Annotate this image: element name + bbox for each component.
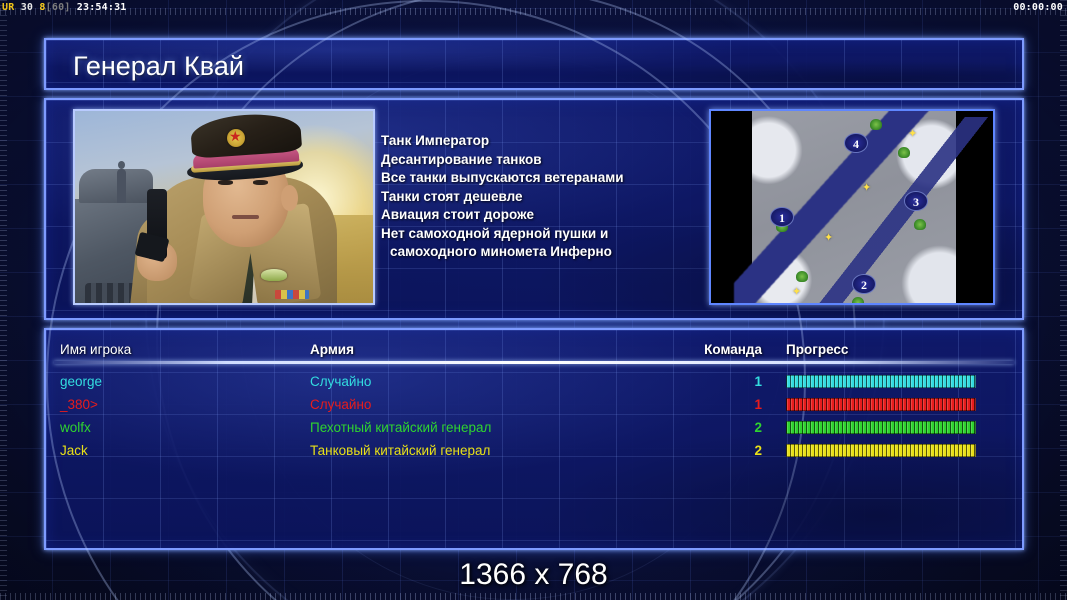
map-tree-marker [914, 219, 926, 230]
player-team: 1 [690, 397, 762, 412]
map-resource-marker: ✦ [824, 233, 833, 244]
resolution-overlay: 1366 x 768 [0, 558, 1067, 592]
portrait-cap-star-emblem [227, 129, 245, 147]
portrait-medal-ribbons [275, 290, 309, 299]
progress-bar [786, 398, 976, 411]
fps-counter: 30 [21, 2, 33, 13]
table-row[interactable]: JackТанковый китайский генерал2 [46, 439, 1022, 462]
player-army: Случайно [310, 397, 690, 412]
player-army: Пехотный китайский генерал [310, 420, 690, 435]
player-name: Jack [60, 443, 310, 458]
map-resource-marker: ✦ [862, 183, 871, 194]
status-bar-left: UR 30 8[60] 23:54:31 [2, 0, 127, 15]
player-progress [762, 421, 980, 434]
description-line: самоходного миномета Инферно [381, 243, 624, 262]
map-start-position[interactable]: 4 [844, 133, 868, 153]
player-progress [762, 398, 980, 411]
player-list: georgeСлучайно1_380>Случайно1wolfxПехотн… [46, 370, 1022, 462]
map-tree-marker [852, 297, 864, 305]
map-start-position[interactable]: 2 [852, 274, 876, 294]
table-header-divider [54, 361, 1014, 364]
map-tree-marker [898, 147, 910, 158]
table-row[interactable]: georgeСлучайно1 [46, 370, 1022, 393]
portrait-eye-right [253, 180, 268, 185]
map-start-position[interactable]: 1 [770, 207, 794, 227]
player-name: wolfx [60, 420, 310, 435]
player-name: _380> [60, 397, 310, 412]
player-team: 2 [690, 420, 762, 435]
portrait-pistol [147, 189, 167, 259]
system-clock: 23:54:31 [77, 2, 127, 13]
map-tree-marker [870, 119, 882, 130]
portrait-eye-left [218, 180, 233, 185]
table-header-row: Имя игрока Армия Команда Прогресс [46, 338, 1022, 360]
portrait-mouth [232, 215, 259, 219]
general-description: Танк ИмператорДесантирование танковВсе т… [381, 132, 624, 262]
game-screen: UR 30 8[60] 23:54:31 00:00:00 Генерал Кв… [0, 0, 1067, 600]
progress-bar [786, 421, 976, 434]
header-player-name: Имя игрока [60, 342, 310, 357]
progress-bar [786, 444, 976, 457]
game-timer: 00:00:00 [1013, 0, 1063, 15]
ping-bracket-close: ] [64, 2, 70, 13]
description-line: Танк Император [381, 132, 624, 151]
ping-max: 60 [52, 2, 64, 13]
table-row[interactable]: wolfxПехотный китайский генерал2 [46, 416, 1022, 439]
map-preview[interactable]: ✦✦✦✦1234 [709, 109, 995, 305]
general-info-panel: Танк ИмператорДесантирование танковВсе т… [44, 98, 1024, 320]
player-team: 2 [690, 443, 762, 458]
players-panel: Имя игрока Армия Команда Прогресс george… [44, 328, 1024, 550]
map-resource-marker: ✦ [908, 129, 917, 140]
description-line: Нет самоходной ядерной пушки и [381, 225, 624, 244]
progress-bar [786, 375, 976, 388]
page-title: Генерал Квай [46, 40, 1022, 92]
title-panel: Генерал Квай [44, 38, 1024, 90]
header-army: Армия [310, 342, 690, 357]
player-progress [762, 444, 980, 457]
player-team: 1 [690, 374, 762, 389]
portrait-ear [281, 185, 298, 211]
portrait-wing-badge [261, 269, 287, 281]
map-resource-marker: ✦ [792, 287, 801, 298]
map-tree-marker [796, 271, 808, 282]
player-progress [762, 375, 980, 388]
general-portrait [73, 109, 375, 305]
player-name: george [60, 374, 310, 389]
status-bar: UR 30 8[60] 23:54:31 00:00:00 [0, 0, 1067, 15]
player-army: Танковый китайский генерал [310, 443, 690, 458]
portrait-soldier [117, 169, 126, 203]
player-army: Случайно [310, 374, 690, 389]
description-line: Десантирование танков [381, 151, 624, 170]
map-terrain: ✦✦✦✦1234 [752, 111, 956, 305]
map-start-position[interactable]: 3 [904, 191, 928, 211]
description-line: Авиация стоит дороже [381, 206, 624, 225]
lobby-window: Генерал Квай [44, 38, 1024, 558]
description-line: Все танки выпускаются ветеранами [381, 169, 624, 188]
header-team: Команда [690, 342, 762, 357]
status-prefix: UR [2, 2, 14, 13]
table-row[interactable]: _380>Случайно1 [46, 393, 1022, 416]
description-line: Танки стоят дешевле [381, 188, 624, 207]
header-progress: Прогресс [762, 342, 980, 357]
